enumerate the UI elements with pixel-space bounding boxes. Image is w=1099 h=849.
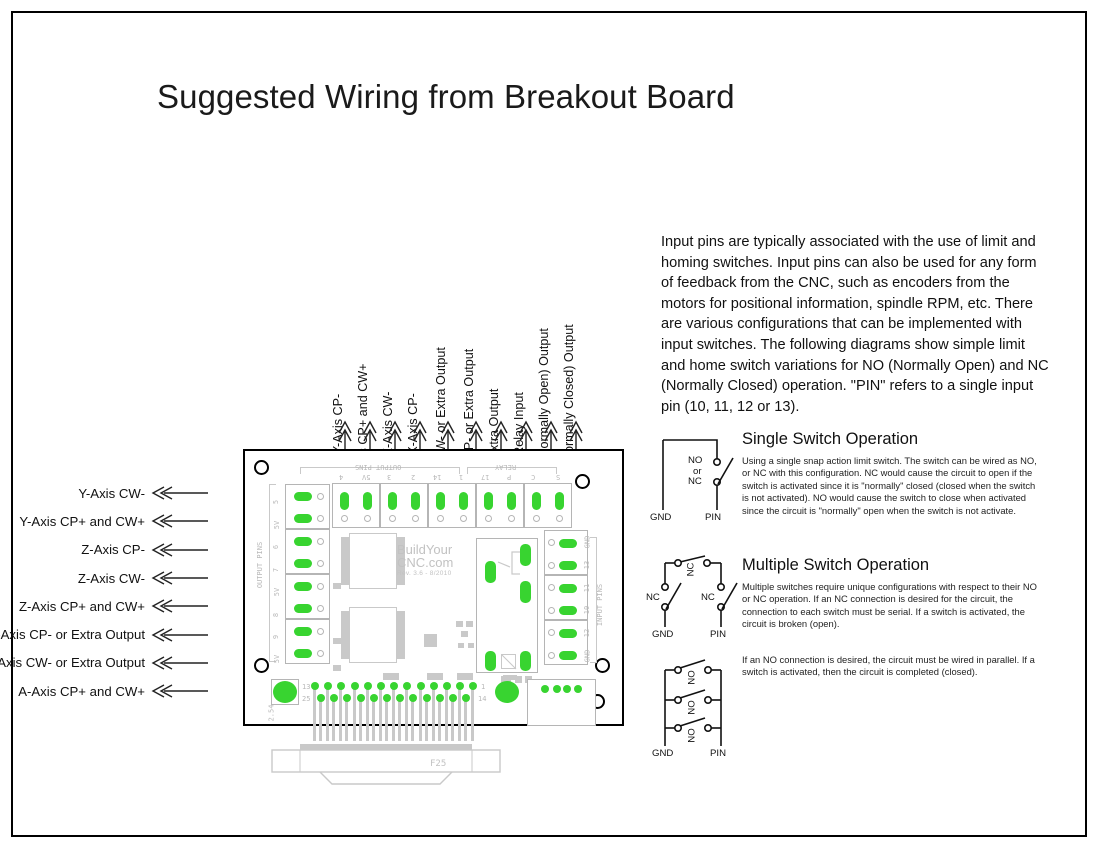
pin-number-silk: 3 — [387, 473, 391, 481]
left-label-text: Z-Axis CP- — [81, 542, 145, 557]
pin-number-silk: S — [556, 473, 560, 481]
pin-label: PIN — [710, 629, 726, 640]
pin-number-silk: C — [531, 473, 535, 481]
pin-number-silk: 4 — [339, 473, 343, 481]
left-arrow-icon — [150, 571, 210, 585]
solder-pad — [559, 629, 577, 638]
screw-hole — [548, 607, 555, 614]
pin-number-silk: 5V — [362, 473, 370, 481]
passive-component — [466, 621, 473, 627]
top-label-group: B-Axis CP- or Extra Output — [465, 240, 487, 460]
solder-pad — [559, 561, 577, 570]
no-label: NO — [687, 670, 698, 684]
left-arrow-icon — [150, 514, 210, 528]
screw-hole — [533, 515, 540, 522]
left-label-row: Y-Axis CW- — [20, 479, 210, 507]
pin-number-silk: 5 — [272, 500, 280, 504]
left-label-row: A-Axis CP+ and CW+ — [20, 677, 210, 705]
pin-number-silk: 1 — [459, 473, 463, 481]
solder-pad — [459, 492, 468, 510]
left-label-text: A-Axis CP- or Extra Output — [0, 627, 145, 642]
solder-pad — [559, 606, 577, 615]
via-array — [427, 673, 443, 680]
top-label-group: Relay Input — [515, 240, 537, 460]
db25-pin-pad — [330, 694, 338, 702]
screw-hole — [317, 560, 324, 567]
pin-number-silk: 8 — [272, 613, 280, 617]
screw-hole — [412, 515, 419, 522]
relay-pad — [520, 581, 531, 603]
passive-component — [468, 643, 474, 648]
via-array — [424, 634, 437, 647]
db25-pin-pad — [311, 682, 319, 690]
screw-hole — [460, 515, 467, 522]
solder-pad — [363, 492, 372, 510]
passive-component — [333, 665, 341, 671]
screw-hole — [389, 515, 396, 522]
aux-pad — [563, 685, 571, 693]
screw-hole — [556, 515, 563, 522]
solder-pad — [507, 492, 516, 510]
single-switch-body: Using a single snap action limit switch.… — [742, 455, 1042, 517]
solder-pad — [559, 651, 577, 660]
top-label-group: Relay NC (Normally Closed) Output — [565, 240, 587, 460]
left-arrow-icon — [150, 486, 210, 500]
solder-pad — [294, 492, 312, 501]
mount-hole — [254, 658, 269, 673]
pitch-silk-label: 2.54 — [267, 705, 275, 722]
solder-pad — [555, 492, 564, 510]
parallel-no-schematic: NO NO NO GND PIN — [655, 658, 747, 758]
db25-pin-pad — [449, 694, 457, 702]
screw-hole — [508, 515, 515, 522]
screw-hole — [548, 562, 555, 569]
passive-component — [333, 583, 341, 589]
via-array — [457, 673, 473, 680]
relay-silk-label: RELAY — [495, 463, 516, 471]
passive-component — [333, 638, 341, 644]
db25-pin-1-silk: 1 — [481, 683, 485, 691]
db25-pin-pad — [370, 694, 378, 702]
nc-label: NC — [688, 476, 702, 487]
left-label-row: A-Axis CW- or Extra Output — [20, 649, 210, 677]
solder-pad — [484, 492, 493, 510]
db25-pin-25-silk: 25 — [302, 695, 310, 703]
gnd-label: GND — [652, 748, 673, 759]
db25-pin-pad — [423, 694, 431, 702]
pin-number-silk: 6 — [272, 545, 280, 549]
screw-hole — [548, 652, 555, 659]
db25-connector: F25 — [270, 726, 520, 786]
db25-pin-pad — [357, 694, 365, 702]
breakout-board: OUTPUT PINS RELAY 4 5V 3 2 14 1 17 P C S… — [243, 449, 624, 726]
series-nc-schematic: NC NC NC GND PIN — [655, 552, 747, 642]
db25-pin-pad — [377, 682, 385, 690]
screw-hole — [317, 515, 324, 522]
db25-pin-pad — [383, 694, 391, 702]
pin-label: PIN — [705, 512, 721, 523]
solder-pad — [559, 584, 577, 593]
mount-hole — [254, 460, 269, 475]
mount-hole — [575, 474, 590, 489]
left-label-row: Y-Axis CP+ and CW+ — [20, 507, 210, 535]
solder-pad — [294, 582, 312, 591]
db25-pin-14-silk: 14 — [478, 695, 486, 703]
left-arrow-icon — [150, 543, 210, 557]
gnd-label: GND — [652, 629, 673, 640]
screw-hole — [437, 515, 444, 522]
left-label-text: Y-Axis CW- — [78, 486, 145, 501]
top-label-column: Y-Axis CP- X-Axis CP+ and CW+ X-Axis CW-… — [318, 180, 588, 460]
db25-pin-pad — [390, 682, 398, 690]
power-pad — [273, 681, 297, 703]
left-label-row: A-Axis CP- or Extra Output — [20, 620, 210, 648]
db25-pin-pad — [351, 682, 359, 690]
screw-hole — [317, 628, 324, 635]
screw-hole — [341, 515, 348, 522]
page-title: Suggested Wiring from Breakout Board — [157, 78, 735, 116]
left-label-row: Z-Axis CP+ and CW+ — [20, 592, 210, 620]
left-arrow-icon — [150, 599, 210, 613]
passive-component — [456, 621, 463, 627]
solder-pad — [411, 492, 420, 510]
db25-pin-pad — [456, 682, 464, 690]
nc-label: NC — [701, 592, 715, 603]
multiple-switch-body-1: Multiple switches require unique configu… — [742, 581, 1042, 631]
integrated-circuit — [349, 607, 397, 663]
top-label-group: Y-Axis CP- — [334, 240, 356, 460]
pin-number-silk: 5V — [273, 655, 281, 663]
pin-number-silk: 17 — [481, 473, 489, 481]
left-label-row: Z-Axis CP- — [20, 536, 210, 564]
db25-pin-pad — [443, 682, 451, 690]
relay-pad — [485, 651, 496, 671]
pin-label: PIN — [710, 748, 726, 759]
left-label-row: Z-Axis CW- — [20, 564, 210, 592]
ic-pin — [396, 611, 405, 659]
no-label: NO — [687, 728, 698, 742]
ic-pin — [341, 537, 350, 585]
left-arrow-icon — [150, 684, 210, 698]
gnd-label: GND — [650, 512, 671, 523]
db25-pin-pad — [436, 694, 444, 702]
pin-number-silk: P — [507, 473, 511, 481]
solder-pad — [340, 492, 349, 510]
pin-number-silk: 7 — [272, 568, 280, 572]
mount-hole — [595, 658, 610, 673]
screw-hole — [364, 515, 371, 522]
db25-pin-pad — [396, 694, 404, 702]
left-arrow-icon — [150, 628, 210, 642]
solder-pad — [294, 649, 312, 658]
screw-hole — [548, 584, 555, 591]
solder-pad — [294, 559, 312, 568]
screw-hole — [317, 605, 324, 612]
relay-pad — [520, 651, 531, 671]
db25-pin-13-silk: 13 — [302, 683, 310, 691]
aux-pad — [541, 685, 549, 693]
screw-hole — [548, 629, 555, 636]
screw-hole — [317, 493, 324, 500]
screw-hole — [485, 515, 492, 522]
solder-pad — [294, 627, 312, 636]
diode-symbol — [501, 654, 516, 669]
top-label-group: X-Axis CP+ and CW+ — [359, 240, 381, 460]
no-label: NO — [688, 455, 702, 466]
multiple-switch-heading: Multiple Switch Operation — [742, 556, 929, 575]
solder-pad — [294, 537, 312, 546]
via-array — [383, 673, 399, 680]
top-label-group: X-Axis CP- — [409, 240, 431, 460]
left-arrow-icon — [150, 656, 210, 670]
multiple-switch-body-2: If an NO connection is desired, the circ… — [742, 654, 1042, 679]
screw-hole — [317, 583, 324, 590]
left-label-text: Z-Axis CP+ and CW+ — [19, 599, 145, 614]
single-switch-schematic: NO or NC GND PIN — [655, 432, 747, 524]
db25-pin-pad — [409, 694, 417, 702]
power-pad — [495, 681, 519, 703]
db25-pin-pad — [417, 682, 425, 690]
screw-hole — [548, 539, 555, 546]
intro-paragraph: Input pins are typically associated with… — [661, 232, 1051, 417]
integrated-circuit — [349, 533, 397, 589]
screw-hole — [317, 538, 324, 545]
db25-pin-pad — [462, 694, 470, 702]
pin-number-silk: 2 — [411, 473, 415, 481]
db25-pin-pad — [430, 682, 438, 690]
output-pins-silk-label: OUTPUT PINS — [355, 463, 401, 471]
db25-pin-pad — [337, 682, 345, 690]
top-label-group: X-Axis CW- — [384, 240, 406, 460]
nc-label: NC — [646, 592, 660, 603]
solder-pad — [294, 514, 312, 523]
pin-number-silk: 14 — [433, 473, 441, 481]
relay-pad — [520, 544, 531, 566]
passive-component — [461, 631, 468, 637]
left-label-text: Z-Axis CW- — [78, 571, 145, 586]
output-pins-left-silk-label: OUTPUT PINS — [256, 542, 264, 588]
single-switch-heading: Single Switch Operation — [742, 430, 918, 449]
solder-pad — [436, 492, 445, 510]
screw-hole — [317, 650, 324, 657]
left-label-text: A-Axis CP+ and CW+ — [18, 684, 145, 699]
top-label-group: Extra Output — [490, 240, 512, 460]
aux-connector — [527, 679, 596, 726]
aux-pad — [574, 685, 582, 693]
aux-silk — [503, 675, 517, 680]
db25-pin-pad — [364, 682, 372, 690]
relay-pad — [485, 561, 496, 583]
pin-number-silk: 5V — [273, 521, 281, 529]
db25-pin-pad — [343, 694, 351, 702]
db25-pin-pad — [469, 682, 477, 690]
left-label-text: Y-Axis CP+ and CW+ — [19, 514, 145, 529]
solder-pad — [388, 492, 397, 510]
svg-text:F25: F25 — [430, 759, 446, 769]
top-label-group: B-Axis CW- or Extra Output — [437, 240, 459, 460]
db25-pin-pad — [317, 694, 325, 702]
db25-pin-pad — [324, 682, 332, 690]
aux-pad — [553, 685, 561, 693]
nc-label: NC — [685, 563, 696, 577]
solder-pad — [559, 539, 577, 548]
top-label-group: Relay NO (Normally Open) Output — [540, 240, 562, 460]
passive-component — [458, 643, 464, 648]
solder-pad — [532, 492, 541, 510]
db25-pin-pad — [403, 682, 411, 690]
pin-number-silk: 9 — [272, 635, 280, 639]
ic-pin — [341, 611, 350, 659]
left-label-column: Y-Axis CW- Y-Axis CP+ and CW+ Z-Axis CP-… — [20, 479, 210, 705]
left-label-text: A-Axis CW- or Extra Output — [0, 655, 145, 670]
no-label: NO — [687, 700, 698, 714]
solder-pad — [294, 604, 312, 613]
input-pins-silk-label: INPUT PINS — [596, 584, 604, 626]
pin-number-silk: 5V — [273, 588, 281, 596]
